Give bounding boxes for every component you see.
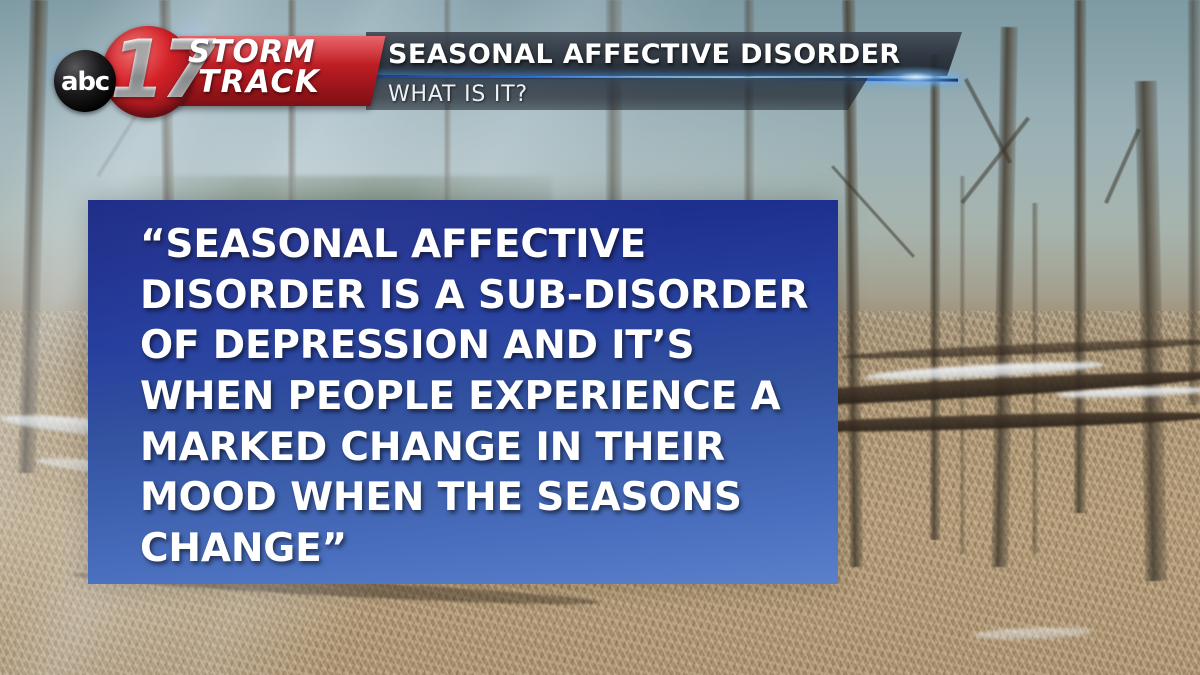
headline-text: SEASONAL AFFECTIVE DISORDER <box>388 39 901 70</box>
headline-bar: SEASONAL AFFECTIVE DISORDER <box>366 32 962 76</box>
subheadline-text: WHAT IS IT? <box>388 82 528 107</box>
abc-logo-label: abc <box>61 69 109 95</box>
subheadline-bar: WHAT IS IT? <box>366 78 868 110</box>
tree-trunk <box>930 54 940 540</box>
tree-trunk <box>960 176 965 554</box>
tree-trunk <box>1074 0 1086 513</box>
channel-number-label: 17 <box>110 24 220 116</box>
station-logo: abc 17 STORM TRACK <box>54 22 366 106</box>
quote-panel: “SEASONAL AFFECTIVE DISORDER IS A SUB-DI… <box>88 200 838 584</box>
abc-logo-icon: abc <box>54 50 116 112</box>
quote-body-text: “SEASONAL AFFECTIVE DISORDER IS A SUB-DI… <box>140 220 814 575</box>
broadcast-graphic: abc 17 STORM TRACK SEASONAL AFFECTIVE DI… <box>0 0 1200 675</box>
